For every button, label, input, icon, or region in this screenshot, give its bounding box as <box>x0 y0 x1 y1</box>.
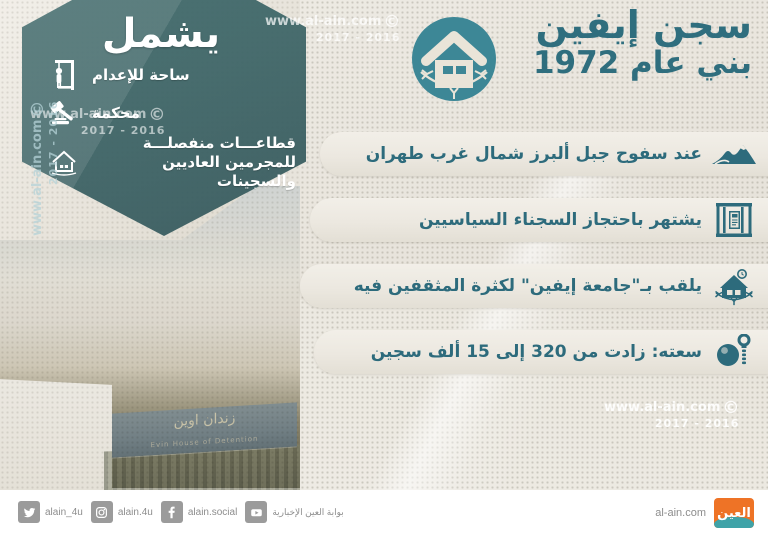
fact-row-label: سعته: زادت من 320 إلى 15 ألف سجين <box>300 342 702 362</box>
house-icon <box>46 146 82 178</box>
social-handle: alain.4u <box>118 507 153 518</box>
hexagon-item-label: قطاعـــات منفصلـــة للمجرمين العاديين وا… <box>92 134 296 190</box>
barred-window-book-icon <box>708 198 760 242</box>
ball-and-chain-icon <box>708 330 760 374</box>
fact-row-label: عند سفوح جبل ألبرز شمال غرب طهران <box>300 144 702 164</box>
facts-list: عند سفوح جبل ألبرز شمال غرب طهران يشتهر … <box>300 132 768 396</box>
social-link-instagram[interactable]: alain.4u <box>91 501 153 523</box>
hexagon-item-court: محكمة <box>26 98 296 128</box>
infographic-canvas: زندان اوین Evin House of Detention <box>0 0 768 542</box>
page-title: سجن إيفين بني عام 1972 <box>432 6 752 80</box>
title-line-1: سجن إيفين <box>432 6 752 46</box>
social-link-twitter[interactable]: alain_4u <box>18 501 83 523</box>
hexagon-content: يشمل ساحة للإعدام <box>26 4 296 234</box>
gate-sign-arabic: زندان اوین <box>122 407 287 437</box>
social-link-youtube[interactable]: بوابة العين الإخبارية <box>245 501 343 523</box>
fact-row-location: عند سفوح جبل ألبرز شمال غرب طهران <box>300 132 768 176</box>
footer-bar: alain_4u alain.4u alain.social <box>0 490 768 542</box>
site-url: al-ain.com <box>655 507 706 519</box>
title-line-2: بني عام 1972 <box>432 46 752 80</box>
hexagon-title: يشمل <box>26 14 296 54</box>
instagram-icon[interactable] <box>91 501 113 523</box>
logo-text: العين <box>714 498 754 528</box>
twitter-icon[interactable] <box>18 501 40 523</box>
gallows-icon <box>46 58 82 92</box>
al-ain-logo[interactable]: العين <box>714 498 754 528</box>
gavel-icon <box>46 98 82 128</box>
fact-row-university-nickname: يلقب بـ"جامعة إيفين" لكثرة المثقفين فيه <box>300 264 768 308</box>
fact-row-capacity: سعته: زادت من 320 إلى 15 ألف سجين <box>300 330 768 374</box>
facebook-icon[interactable] <box>161 501 183 523</box>
hexagon-item-sections: قطاعـــات منفصلـــة للمجرمين العاديين وا… <box>26 134 296 190</box>
social-links: alain_4u alain.4u alain.social <box>18 501 344 523</box>
brand-area[interactable]: al-ain.com العين <box>655 498 754 528</box>
hexagon-item-label: ساحة للإعدام <box>92 66 190 85</box>
youtube-icon[interactable] <box>245 501 267 523</box>
hexagon-item-gallows: ساحة للإعدام <box>26 58 296 92</box>
fact-row-label: يشتهر باحتجاز السجناء السياسيين <box>300 210 702 230</box>
social-link-facebook[interactable]: alain.social <box>161 501 237 523</box>
social-handle: alain.social <box>188 507 237 518</box>
social-handle: بوابة العين الإخبارية <box>272 507 343 518</box>
fact-row-political-prisoners: يشتهر باحتجاز السجناء السياسيين <box>300 198 768 242</box>
social-handle: alain_4u <box>45 507 83 518</box>
fact-row-label: يلقب بـ"جامعة إيفين" لكثرة المثقفين فيه <box>300 276 702 296</box>
mountain-icon <box>708 132 760 176</box>
prison-clock-house-icon <box>708 264 760 308</box>
hexagon-item-label: محكمة <box>92 104 140 123</box>
